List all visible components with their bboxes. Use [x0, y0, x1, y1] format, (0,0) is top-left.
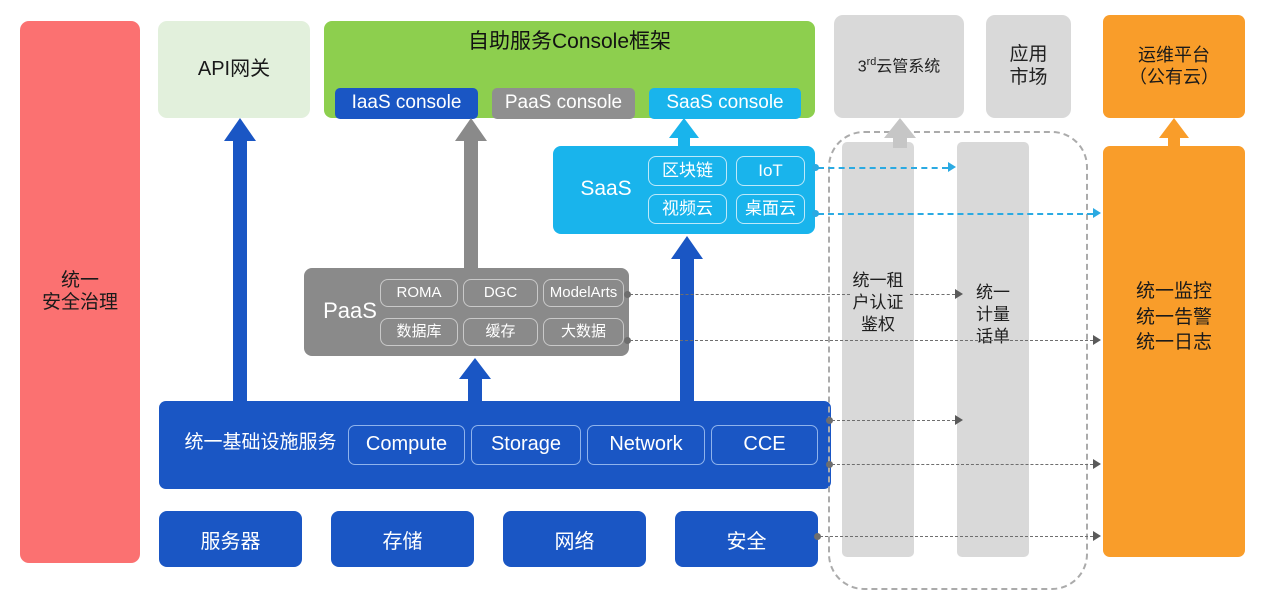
- unified-tenant-auth-column: 统一租 户认证 鉴权: [842, 142, 914, 557]
- api-gateway-box: API网关: [158, 21, 310, 118]
- connector-paas-to-ops: [630, 340, 1093, 341]
- ops-line-2: 统一告警: [1136, 305, 1212, 331]
- third-party-label: 3rd云管系统: [858, 56, 941, 77]
- connector-infra-to-ops: [832, 464, 1093, 465]
- paas-chip-modelarts[interactable]: ModelArts: [543, 279, 624, 307]
- connector-arrowhead-paas-ops: [1093, 335, 1101, 345]
- connector-arrowhead-infra-auth: [955, 415, 963, 425]
- connector-arrowhead-hardware-ops: [1093, 531, 1101, 541]
- unified-security-governance-column: 统一 安全治理: [20, 21, 140, 563]
- arrow-ops-column-to-ops-platform: [1159, 118, 1189, 148]
- saas-chip-blockchain[interactable]: 区块链: [648, 156, 727, 186]
- paas-chip-bigdata[interactable]: 大数据: [543, 318, 624, 346]
- infra-chip-cce[interactable]: CCE: [711, 425, 818, 465]
- hardware-box-security[interactable]: 安全: [675, 511, 818, 567]
- paas-chip-database[interactable]: 数据库: [380, 318, 458, 346]
- saas-label: SaaS: [565, 177, 647, 202]
- arrow-infra-to-api-gateway: [224, 118, 256, 404]
- arrow-paas-to-console: [455, 118, 487, 270]
- arrow-saas-to-saas-console: [669, 118, 699, 148]
- ops-platform-text: 运维平台 （公有云）: [1129, 45, 1219, 87]
- app-market-line-1: 应用: [1009, 44, 1047, 66]
- meter-text: 统一 计量 话单: [976, 282, 1010, 348]
- ops-platform-line-1: 运维平台: [1129, 45, 1219, 66]
- third-party-prefix: 3: [858, 58, 867, 75]
- arrow-infra-to-saas: [671, 236, 703, 402]
- ops-platform-box: 运维平台 （公有云）: [1103, 15, 1245, 118]
- paas-label: PaaS: [314, 298, 386, 324]
- api-gateway-label: API网关: [198, 58, 270, 82]
- app-market-box: 应用 市场: [986, 15, 1071, 118]
- auth-text: 统一租 户认证 鉴权: [853, 270, 904, 336]
- connector-saas-to-ops: [818, 213, 1093, 215]
- ops-line-1: 统一监控: [1136, 279, 1212, 305]
- console-frame-title: 自助服务Console框架: [324, 30, 815, 55]
- hardware-box-network[interactable]: 网络: [503, 511, 646, 567]
- paas-block: PaaS ROMA DGC ModelArts 数据库 缓存 大数据: [304, 268, 629, 356]
- ops-platform-line-2: （公有云）: [1129, 67, 1219, 88]
- unified-infrastructure-service-bar: 统一基础设施服务 Compute Storage Network CCE: [159, 401, 831, 489]
- security-line-2: 安全治理: [42, 292, 118, 314]
- paas-console-chip[interactable]: PaaS console: [492, 88, 635, 119]
- hardware-box-storage[interactable]: 存储: [331, 511, 474, 567]
- auth-line-2: 户认证: [853, 292, 904, 314]
- self-service-console-frame: 自助服务Console框架 IaaS console PaaS console …: [324, 21, 815, 118]
- saas-block: SaaS 区块链 IoT 视频云 桌面云: [553, 146, 815, 234]
- auth-line-1: 统一租: [853, 270, 904, 292]
- third-party-superscript: rd: [867, 56, 877, 68]
- iaas-console-chip[interactable]: IaaS console: [335, 88, 478, 119]
- saas-chip-iot[interactable]: IoT: [736, 156, 805, 186]
- infra-chip-network[interactable]: Network: [587, 425, 705, 465]
- unified-metering-billing-column: 统一 计量 话单: [957, 142, 1029, 557]
- third-party-cloud-mgmt-box: 3rd云管系统: [834, 15, 964, 118]
- ops-line-3: 统一日志: [1136, 330, 1212, 356]
- unified-monitoring-column: 统一监控 统一告警 统一日志: [1103, 146, 1245, 557]
- connector-arrowhead-infra-ops: [1093, 459, 1101, 469]
- architecture-diagram: 统一 安全治理 API网关 自助服务Console框架 IaaS console…: [0, 0, 1265, 605]
- security-line-1: 统一: [42, 270, 118, 292]
- hardware-box-server[interactable]: 服务器: [159, 511, 302, 567]
- paas-chip-dgc[interactable]: DGC: [463, 279, 538, 307]
- paas-chip-cache[interactable]: 缓存: [463, 318, 538, 346]
- meter-line-2: 计量: [976, 304, 1010, 326]
- connector-hardware-to-ops: [820, 536, 1093, 537]
- connector-auth-to-meter: [910, 294, 955, 295]
- meter-line-3: 话单: [976, 326, 1010, 348]
- paas-chip-roma[interactable]: ROMA: [380, 279, 458, 307]
- saas-chip-video-cloud[interactable]: 视频云: [648, 194, 727, 224]
- third-party-suffix: 云管系统: [876, 58, 940, 75]
- saas-console-chip[interactable]: SaaS console: [649, 88, 801, 119]
- connector-arrowhead-saas-auth: [948, 162, 956, 172]
- arrow-infra-to-paas: [459, 358, 491, 402]
- connector-paas-to-auth: [630, 294, 850, 295]
- ops-column-text: 统一监控 统一告警 统一日志: [1136, 279, 1212, 356]
- infra-label: 统一基础设施服务: [173, 432, 348, 454]
- security-column-text: 统一 安全治理: [42, 270, 118, 315]
- app-market-line-2: 市场: [1009, 67, 1047, 89]
- infra-chip-storage[interactable]: Storage: [471, 425, 581, 465]
- connector-saas-to-auth: [818, 167, 948, 169]
- connector-arrowhead-auth-meter: [955, 289, 963, 299]
- connector-infra-to-auth: [832, 420, 955, 421]
- arrow-shared-to-third-party: [884, 118, 916, 148]
- saas-chip-desktop-cloud[interactable]: 桌面云: [736, 194, 805, 224]
- auth-line-3: 鉴权: [853, 314, 904, 336]
- meter-line-1: 统一: [976, 282, 1010, 304]
- connector-arrowhead-saas-ops: [1093, 208, 1101, 218]
- app-market-text: 应用 市场: [1009, 44, 1047, 89]
- infra-chip-compute[interactable]: Compute: [348, 425, 465, 465]
